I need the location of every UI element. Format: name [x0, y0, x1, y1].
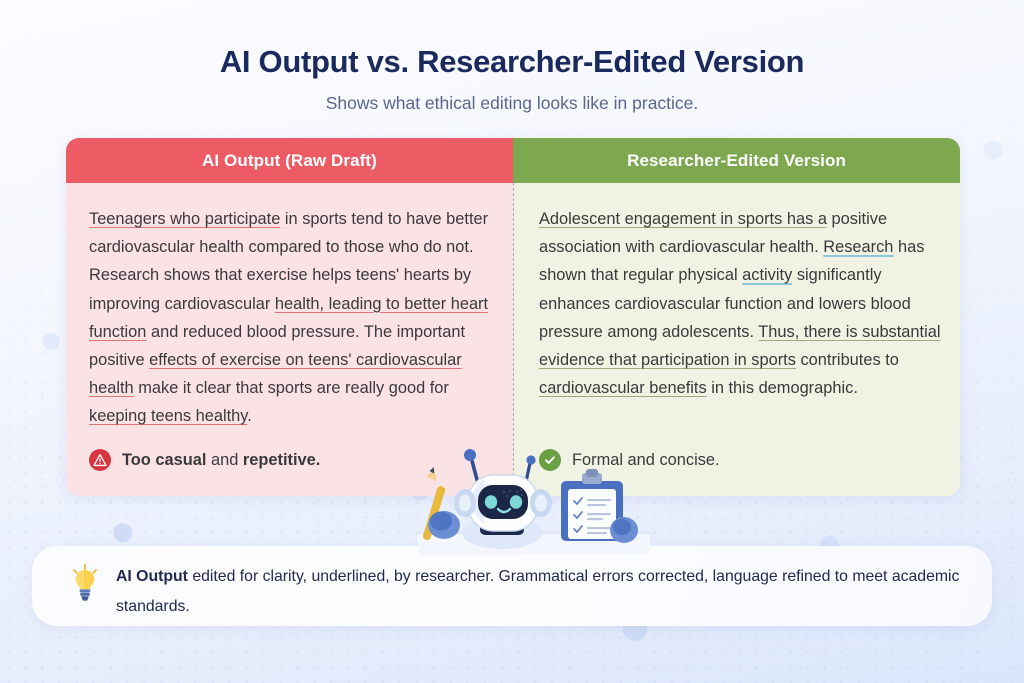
- lightbulb-icon: [70, 564, 100, 607]
- column-ai-output: AI Output (Raw Draft) Teenagers who part…: [66, 138, 513, 496]
- footer-note: AI Output edited for clarity, underlined…: [32, 546, 992, 626]
- ai-output-verdict-text: Too casual and repetitive.: [122, 451, 320, 470]
- underlined-phrase: Teenagers who participate: [89, 210, 280, 228]
- emphasis-text: Too casual: [122, 451, 206, 469]
- column-header-researcher-edited: Researcher-Edited Version: [513, 138, 960, 183]
- underlined-phrase: Thus, there is substantial evidence that…: [539, 323, 941, 369]
- warning-icon: [89, 449, 111, 471]
- page-header: AI Output vs. Researcher-Edited Version …: [0, 44, 1024, 114]
- robot-assistant-illustration: [418, 447, 650, 555]
- underlined-phrase: effects of exercise on teens' cardiovasc…: [89, 351, 462, 397]
- emphasis-text: AI Output: [116, 568, 188, 585]
- underlined-phrase: activity: [742, 266, 792, 284]
- column-researcher-edited: Researcher-Edited Version Adolescent eng…: [513, 138, 960, 496]
- underlined-phrase: cardiovascular benefits: [539, 379, 707, 397]
- emphasis-text: repetitive.: [243, 451, 320, 469]
- researcher-edited-paragraph: Adolescent engagement in sports has a po…: [539, 205, 944, 402]
- page-subtitle: Shows what ethical editing looks like in…: [0, 93, 1024, 114]
- ai-output-paragraph: Teenagers who participate in sports tend…: [89, 205, 490, 431]
- column-header-ai-output: AI Output (Raw Draft): [66, 138, 513, 183]
- underlined-phrase: Research: [823, 238, 893, 256]
- underlined-phrase: Adolescent engagement in sports has a: [539, 210, 827, 228]
- comparison-card: AI Output (Raw Draft) Teenagers who part…: [66, 138, 960, 496]
- page-title: AI Output vs. Researcher-Edited Version: [0, 44, 1024, 80]
- footer-note-text: AI Output edited for clarity, underlined…: [116, 562, 962, 622]
- underlined-phrase: health, leading to better heart function: [89, 295, 488, 341]
- underlined-phrase: keeping teens healthy: [89, 407, 247, 425]
